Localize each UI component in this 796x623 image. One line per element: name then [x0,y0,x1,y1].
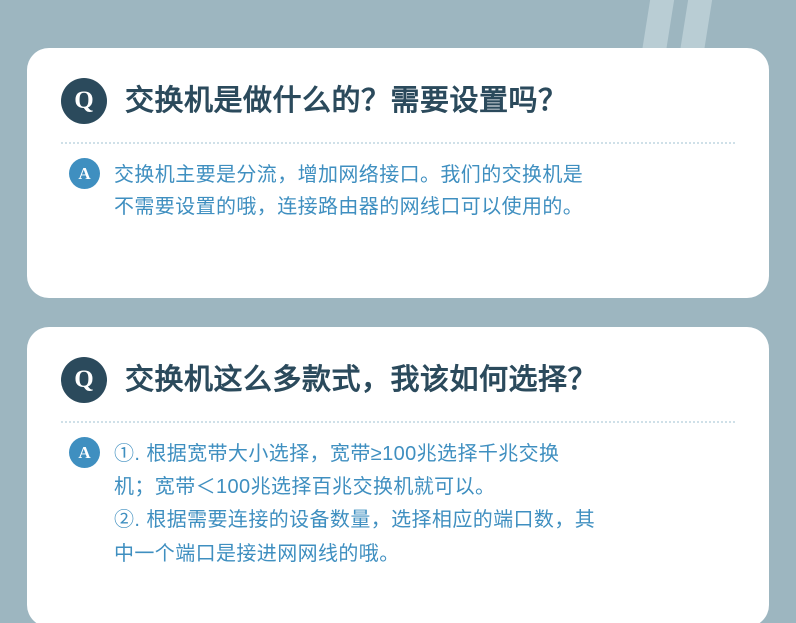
faq-page: Q 交换机是做什么的？需要设置吗？ A 交换机主要是分流，增加网络接口。我们的交… [0,0,796,623]
faq-card-2: Q 交换机这么多款式，我该如何选择？ A ①. 根据宽带大小选择，宽带≥100兆… [27,327,769,623]
faq-card-1: Q 交换机是做什么的？需要设置吗？ A 交换机主要是分流，增加网络接口。我们的交… [27,48,769,298]
question-row-1: Q 交换机是做什么的？需要设置吗？ [61,78,735,124]
answer-badge-icon: A [69,437,100,468]
answer-line: ①. 根据宽带大小选择，宽带≥100兆选择千兆交换 [114,438,595,471]
question-text-1: 交换机是做什么的？需要设置吗？ [125,84,568,119]
answer-line: ②. 根据需要连接的设备数量，选择相应的端口数，其 [114,504,595,537]
card-divider-2 [61,421,735,423]
question-badge-icon: Q [61,78,107,124]
answer-row-1: A 交换机主要是分流，增加网络接口。我们的交换机是 不需要设置的哦，连接路由器的… [61,158,735,224]
answer-line: 机；宽带＜100兆选择百兆交换机就可以。 [114,471,595,504]
answer-text-1: 交换机主要是分流，增加网络接口。我们的交换机是 不需要设置的哦，连接路由器的网线… [114,158,583,224]
question-row-2: Q 交换机这么多款式，我该如何选择？ [61,357,735,403]
answer-row-2: A ①. 根据宽带大小选择，宽带≥100兆选择千兆交换 机；宽带＜100兆选择百… [61,437,735,571]
question-text-2: 交换机这么多款式，我该如何选择？ [125,363,597,398]
answer-badge-icon: A [69,158,100,189]
question-badge-icon: Q [61,357,107,403]
answer-line: 交换机主要是分流，增加网络接口。我们的交换机是 [114,159,583,191]
answer-line: 不需要设置的哦，连接路由器的网线口可以使用的。 [114,191,583,223]
answer-text-2: ①. 根据宽带大小选择，宽带≥100兆选择千兆交换 机；宽带＜100兆选择百兆交… [114,437,595,571]
card-divider-1 [61,142,735,144]
answer-line: 中一个端口是接进网网线的哦。 [114,538,595,571]
